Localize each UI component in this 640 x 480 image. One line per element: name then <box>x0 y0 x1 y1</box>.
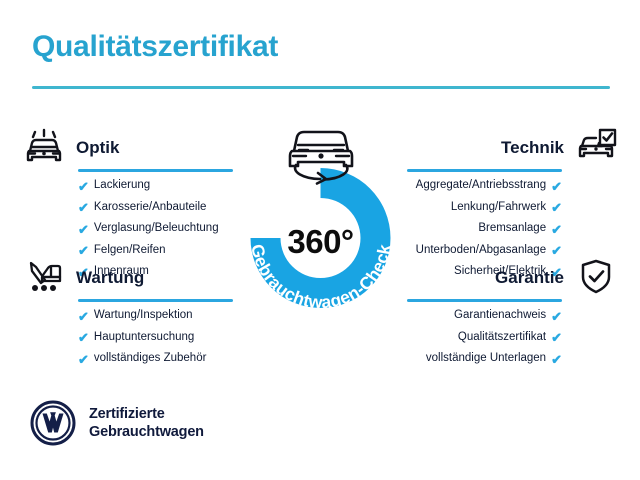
shield-check-icon <box>574 257 618 297</box>
title-divider <box>32 86 610 89</box>
list-item: ✔Verglasung/Beleuchtung <box>78 223 237 236</box>
car-shine-icon <box>22 127 66 167</box>
list-item: ✔Lenkung/Fahrwerk <box>403 201 562 214</box>
list-item-label: Qualitätszertifikat <box>458 332 546 344</box>
badge-center-label: 360° <box>228 223 413 261</box>
footer-branding: Zertifizierte Gebrauchtwagen <box>30 400 204 446</box>
list-item: ✔Hauptuntersuchung <box>78 331 237 344</box>
list-item: ✔Garantienachweis <box>403 310 562 323</box>
certificate-page: Qualitätszertifikat <box>0 0 640 480</box>
section-garantie-header: Garantie <box>403 256 618 298</box>
list-item: ✔Wartung/Inspektion <box>78 310 237 323</box>
page-title: Qualitätszertifikat <box>32 30 278 64</box>
list-item-label: Wartung/Inspektion <box>94 310 193 322</box>
list-item: ✔Qualitätszertifikat <box>403 331 562 344</box>
check-icon: ✔ <box>551 353 562 366</box>
list-item: ✔Lackierung <box>78 180 237 193</box>
car-rotation-360-icon <box>290 132 352 184</box>
footer-line-2: Gebrauchtwagen <box>89 424 204 440</box>
check-icon: ✔ <box>78 223 89 236</box>
vw-logo-icon <box>30 400 76 446</box>
section-optik-title: Optik <box>66 139 237 156</box>
check-icon: ✔ <box>551 310 562 323</box>
list-item-label: Hauptuntersuchung <box>94 332 194 344</box>
section-wartung-divider <box>78 299 233 302</box>
section-technik-header: Technik <box>403 126 618 168</box>
car-checkbox-icon <box>574 127 618 167</box>
check-icon: ✔ <box>78 353 89 366</box>
list-item: ✔vollständiges Zubehör <box>78 353 237 366</box>
check-icon: ✔ <box>78 310 89 323</box>
list-item-label: Lenkung/Fahrwerk <box>451 202 546 214</box>
check-icon: ✔ <box>78 331 89 344</box>
badge-ring-graphic: Gebrauchtwagen-Check <box>228 118 413 323</box>
list-item: ✔Karosserie/Anbauteile <box>78 201 237 214</box>
list-item-label: Karosserie/Anbauteile <box>94 202 207 214</box>
list-item-label: Unterboden/Abgasanlage <box>416 245 546 257</box>
section-wartung-header: Wartung <box>22 256 237 298</box>
check-icon: ✔ <box>78 180 89 193</box>
section-technik-divider <box>407 169 562 172</box>
list-item: ✔Aggregate/Antriebsstrang <box>403 180 562 193</box>
car-service-tools-icon <box>22 257 66 297</box>
section-wartung: Wartung ✔Wartung/Inspektion ✔Hauptunters… <box>22 256 237 382</box>
section-garantie-title: Garantie <box>403 269 574 286</box>
list-item-label: Verglasung/Beleuchtung <box>94 223 219 235</box>
section-optik-header: Optik <box>22 126 237 168</box>
section-garantie: Garantie ✔Garantienachweis ✔Qualitätszer… <box>403 256 618 382</box>
section-wartung-title: Wartung <box>66 269 237 286</box>
check-icon: ✔ <box>551 201 562 214</box>
list-item-label: Felgen/Reifen <box>94 245 166 257</box>
list-item-label: Aggregate/Antriebsstrang <box>416 180 546 192</box>
check-icon: ✔ <box>551 331 562 344</box>
list-item-label: vollständiges Zubehör <box>94 353 207 365</box>
check-icon: ✔ <box>551 180 562 193</box>
section-optik-divider <box>78 169 233 172</box>
section-garantie-list: ✔Garantienachweis ✔Qualitätszertifikat ✔… <box>403 310 618 366</box>
check-icon: ✔ <box>78 201 89 214</box>
badge-360-gebrauchtwagen-check: Gebrauchtwagen-Check 360° <box>228 118 413 323</box>
footer-line-1: Zertifizierte <box>89 406 165 422</box>
check-icon: ✔ <box>551 223 562 236</box>
section-technik-title: Technik <box>403 139 574 156</box>
list-item-label: Bremsanlage <box>478 223 546 235</box>
section-garantie-divider <box>407 299 562 302</box>
section-wartung-list: ✔Wartung/Inspektion ✔Hauptuntersuchung ✔… <box>22 310 237 366</box>
footer-brand-text: Zertifizierte Gebrauchtwagen <box>89 405 204 441</box>
list-item-label: Lackierung <box>94 180 150 192</box>
list-item-label: Garantienachweis <box>454 310 546 322</box>
list-item: ✔vollständige Unterlagen <box>403 353 562 366</box>
list-item: ✔Bremsanlage <box>403 223 562 236</box>
list-item-label: vollständige Unterlagen <box>426 353 546 365</box>
